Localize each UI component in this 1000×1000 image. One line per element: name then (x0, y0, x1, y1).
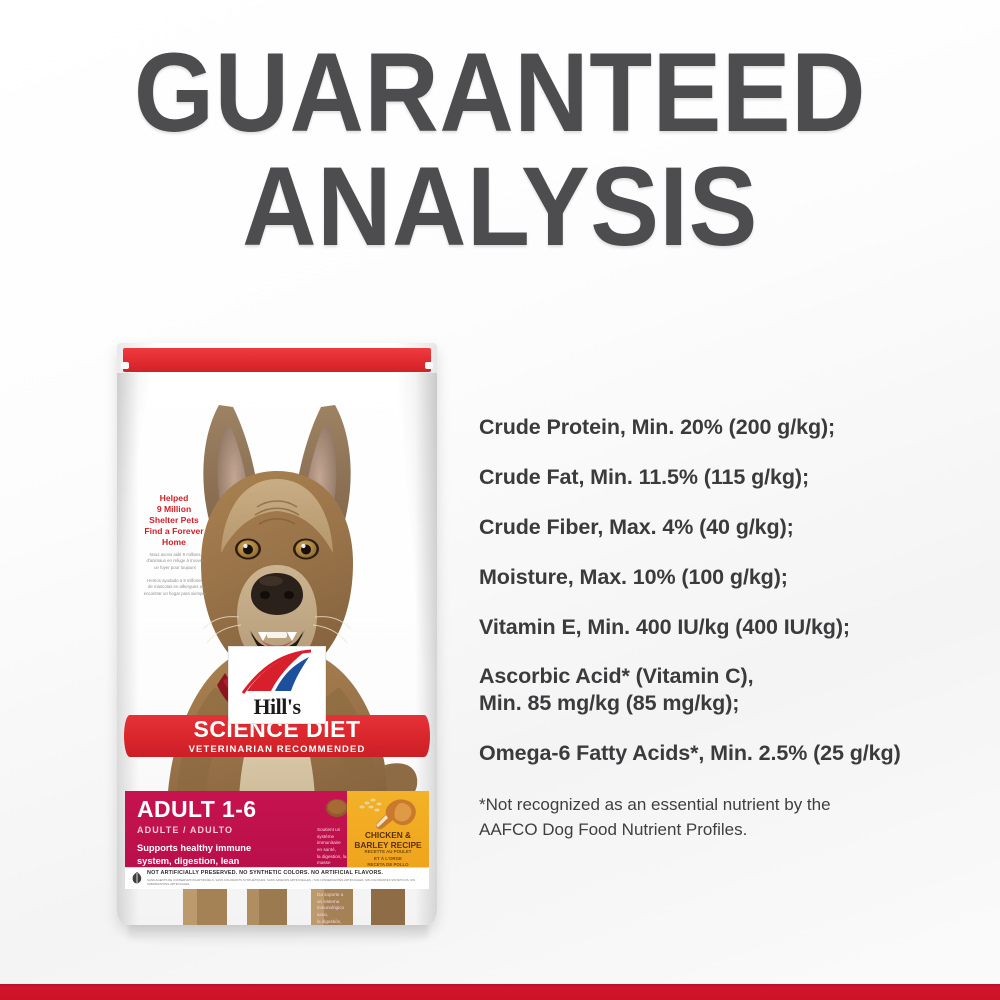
page-title: GUARANTEED ANALYSIS (0, 38, 1000, 262)
life-stage-sublabel: ADULTE / ADULTO (137, 825, 315, 835)
hills-wordmark: Hill's (229, 694, 325, 720)
page-title-line-2: ANALYSIS (40, 152, 960, 262)
guaranteed-analysis-list: Crude Protein, Min. 20% (200 g/kg); Crud… (479, 414, 979, 767)
leaf-icon (131, 871, 143, 885)
analysis-footnote: *Not recognized as an essential nutrient… (479, 793, 929, 842)
preservative-note: NOT ARTIFICIALLY PRESERVED. NO SYNTHETIC… (147, 870, 429, 876)
bottom-accent-bar (0, 984, 1000, 1000)
product-label-band: ADULT 1-6 ADULTE / ADULTO Supports healt… (125, 791, 429, 867)
preservative-strip: NOT ARTIFICIALLY PRESERVED. NO SYNTHETIC… (125, 867, 429, 889)
nutrient-line: Crude Fiber, Max. 4% (40 g/kg); (479, 514, 979, 541)
veterinarian-recommended-label: VETERINARIAN RECOMMENDED (124, 744, 430, 755)
nutrient-line: Vitamin E, Min. 400 IU/kg (400 IU/kg); (479, 614, 979, 641)
chicken-drumstick-icon (353, 794, 423, 834)
shelter-claim-subtext: Nous avons aidé 9 millions d'animaux en … (139, 552, 211, 597)
benefits-text-es: Da soporte a un sistema inmunológico san… (315, 892, 347, 925)
nutrient-line: Moisture, Max. 10% (100 g/kg); (479, 564, 979, 591)
label-middle-section: Soutient un système immunitaire en santé… (315, 791, 347, 867)
label-left-section: ADULT 1-6 ADULTE / ADULTO Supports healt… (125, 791, 315, 867)
life-stage-label: ADULT 1-6 (137, 798, 315, 821)
shelter-claim-text: Helped 9 Million Shelter Pets Find a For… (137, 493, 211, 548)
dog-legs (125, 889, 429, 925)
preservative-note-translations: SANS AGENTS DE CONSERVATION ARTIFICIELS.… (147, 878, 429, 886)
recipe-name: CHICKEN & BARLEY RECIPE (347, 831, 429, 851)
product-bag: Helped 9 Million Shelter Pets Find a For… (117, 343, 437, 925)
hills-logo: Hill's (228, 646, 326, 724)
nutrient-line: Crude Protein, Min. 20% (200 g/kg); (479, 414, 979, 441)
page-title-line-1: GUARANTEED (40, 38, 960, 148)
nutrient-line: Crude Fat, Min. 11.5% (115 g/kg); (479, 464, 979, 491)
product-bag-image: Helped 9 Million Shelter Pets Find a For… (112, 343, 442, 943)
recipe-panel: CHICKEN & BARLEY RECIPE RECETTE AU POULE… (347, 791, 429, 867)
nutrient-line: Ascorbic Acid* (Vitamin C), Min. 85 mg/k… (479, 663, 979, 717)
nutrient-line: Omega-6 Fatty Acids*, Min. 2.5% (25 g/kg… (479, 740, 979, 767)
dog-photo (117, 367, 437, 847)
